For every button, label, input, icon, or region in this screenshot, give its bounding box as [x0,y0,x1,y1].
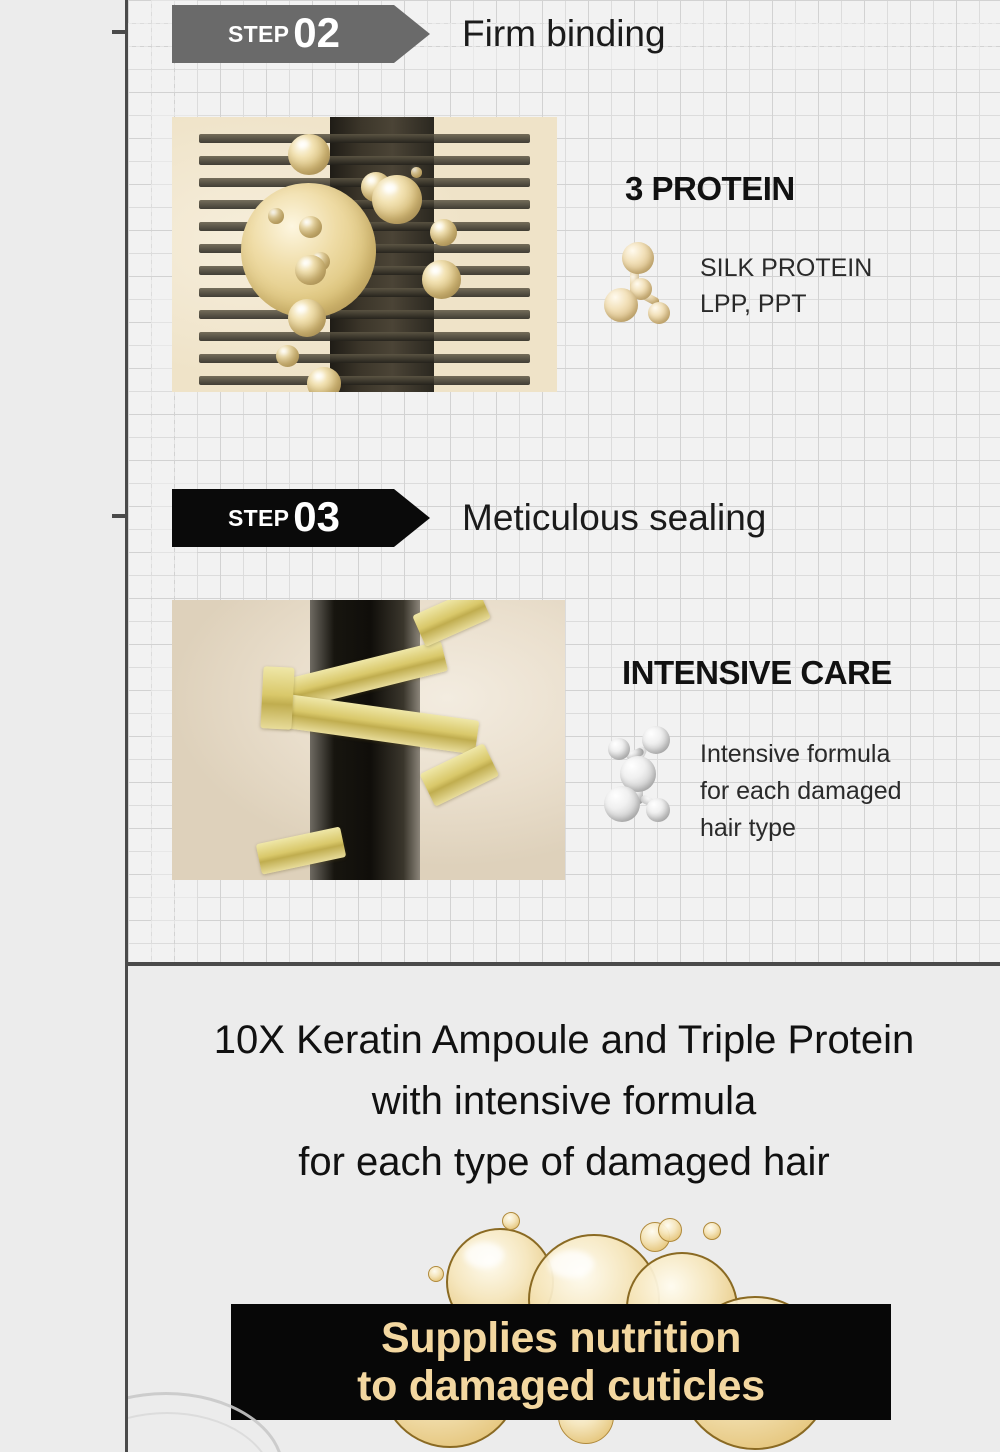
feature-intensive-care-body: Intensive formula for each damaged hair … [700,736,902,846]
banner-line-1: Supplies nutrition [381,1314,741,1362]
step-02-tick [112,30,128,34]
step-03-banner: STEP 03 [172,489,430,547]
oil-droplet-large [241,183,376,318]
claim-line-2: with intensive formula [128,1071,1000,1132]
photo-ribbon-strand [172,600,565,880]
product-detail-page: STEP 02 Firm binding 3 PROTEIN [0,0,1000,1452]
banner-line-2: to damaged cuticles [357,1362,765,1410]
step-03-title: Meticulous sealing [462,497,766,539]
gold-molecule-icon [604,242,670,334]
claim-line-1: 10X Keratin Ampoule and Triple Protein [128,1010,1000,1071]
feature-3protein-heading: 3 PROTEIN [625,170,795,208]
claim-section: 10X Keratin Ampoule and Triple Protein w… [128,966,1000,1452]
claim-line-3: for each type of damaged hair [128,1132,1000,1193]
nutrition-banner: Supplies nutrition to damaged cuticles [231,1304,891,1420]
vertical-rule [125,0,128,965]
feature-intensive-care-heading: INTENSIVE CARE [622,654,892,692]
feature-3protein-body: SILK PROTEIN LPP, PPT [700,250,872,323]
claim-text: 10X Keratin Ampoule and Triple Protein w… [128,1010,1000,1192]
step-03-tick [112,514,128,518]
step-02-number: 02 [293,12,340,54]
step-03-label: STEP [228,505,289,532]
step-03-number: 03 [293,496,340,538]
step-02-title: Firm binding [462,13,666,55]
step-02-label: STEP [228,21,289,48]
step-02-banner: STEP 02 [172,5,430,63]
photo-oil-bubbles-cuticle [172,117,557,392]
silver-molecule-icon [604,724,674,828]
